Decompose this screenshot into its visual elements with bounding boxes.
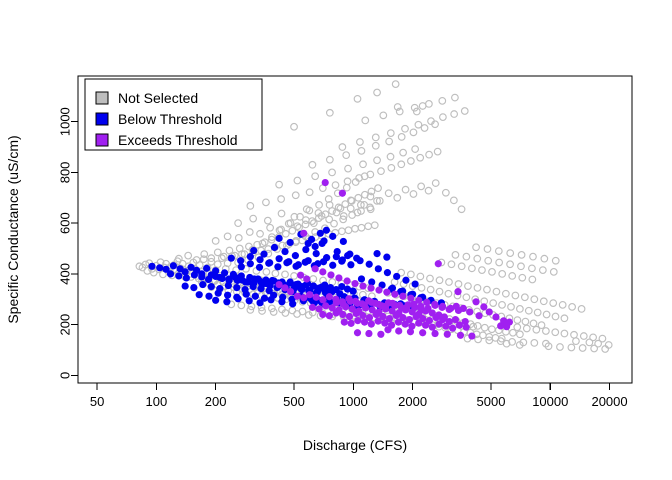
x-tick-label: 1000 (339, 394, 368, 409)
data-point (407, 295, 414, 302)
x-tick-label: 10000 (532, 394, 568, 409)
data-point (412, 280, 419, 287)
data-point (292, 252, 299, 259)
data-point (429, 324, 436, 331)
data-point (457, 332, 464, 339)
data-point (276, 281, 283, 288)
data-point (238, 263, 245, 270)
data-point (333, 309, 340, 316)
data-point (384, 269, 391, 276)
y-axis-title: Specific Conductance (uS/cm) (5, 135, 21, 323)
data-point (346, 251, 353, 258)
data-point (346, 313, 353, 320)
data-point (313, 250, 320, 257)
data-point (383, 254, 390, 261)
data-point (219, 275, 226, 282)
data-point (271, 244, 278, 251)
data-point (480, 303, 487, 310)
data-point (300, 230, 307, 237)
data-point (433, 314, 440, 321)
data-point (492, 313, 499, 320)
data-point (312, 265, 319, 272)
data-point (354, 317, 361, 324)
data-point (435, 260, 442, 267)
data-point (375, 317, 382, 324)
data-point (215, 290, 222, 297)
data-point (276, 255, 283, 262)
data-point (156, 264, 163, 271)
data-point (205, 293, 212, 300)
data-point (302, 259, 309, 266)
data-point (389, 300, 396, 307)
data-point (447, 305, 454, 312)
data-point (276, 235, 283, 242)
data-point (407, 328, 414, 335)
data-point (289, 300, 296, 307)
data-point (373, 311, 380, 318)
legend-swatch-exceeds-threshold (96, 134, 108, 146)
y-tick-label: 200 (57, 314, 72, 336)
data-point (292, 263, 299, 270)
data-point (235, 295, 242, 302)
data-point (167, 270, 174, 277)
data-point (247, 260, 254, 267)
data-point (305, 240, 312, 247)
data-point (341, 319, 348, 326)
data-point (402, 321, 409, 328)
data-point (309, 304, 316, 311)
data-point (424, 305, 431, 312)
data-point (503, 323, 510, 330)
data-point (233, 284, 240, 291)
data-point (475, 312, 482, 319)
data-point (182, 268, 189, 275)
data-point (466, 308, 473, 315)
data-point (323, 227, 330, 234)
data-point (368, 278, 375, 285)
data-point (436, 321, 443, 328)
data-point (322, 302, 329, 309)
x-tick-label: 2000 (398, 394, 427, 409)
data-point (393, 273, 400, 280)
data-point (366, 261, 373, 268)
legend-swatch-not-selected (96, 92, 108, 104)
data-point (413, 313, 420, 320)
data-point (329, 233, 336, 240)
data-point (353, 310, 360, 317)
data-point (472, 298, 479, 305)
data-point (183, 274, 190, 281)
data-point (367, 285, 374, 292)
data-point (347, 320, 354, 327)
data-point (368, 299, 375, 306)
data-point (191, 271, 198, 278)
data-point (175, 272, 182, 279)
data-point (347, 261, 354, 268)
data-point (247, 253, 254, 260)
legend-swatch-below-threshold (96, 113, 108, 125)
data-point (203, 265, 210, 272)
data-point (454, 288, 461, 295)
legend-label-below-threshold: Below Threshold (118, 111, 222, 127)
data-point (208, 283, 215, 290)
data-point (441, 313, 448, 320)
y-tick-label: 400 (57, 263, 72, 285)
data-point (399, 293, 406, 300)
data-point (319, 268, 326, 275)
data-point (297, 285, 304, 292)
data-point (356, 257, 363, 264)
x-tick-label: 100 (146, 394, 168, 409)
data-point (358, 275, 365, 282)
data-point (354, 329, 361, 336)
data-point (381, 320, 388, 327)
data-point (415, 297, 422, 304)
data-point (297, 272, 304, 279)
x-tick-label: 50 (90, 394, 104, 409)
data-point (294, 293, 301, 300)
data-point (335, 274, 342, 281)
data-point (462, 318, 469, 325)
data-point (246, 297, 253, 304)
data-point (449, 325, 456, 332)
x-tick-label: 200 (205, 394, 227, 409)
data-point (237, 257, 244, 264)
data-point (431, 301, 438, 308)
data-point (422, 322, 429, 329)
data-point (306, 291, 313, 298)
data-point (198, 273, 205, 280)
data-point (265, 260, 272, 267)
data-point (377, 331, 384, 338)
x-tick-label: 5000 (477, 394, 506, 409)
data-point (320, 258, 327, 265)
legend-label-exceeds-threshold: Exceeds Threshold (118, 132, 238, 148)
data-point (375, 287, 382, 294)
data-point (322, 179, 329, 186)
data-point (347, 298, 354, 305)
data-point (403, 304, 410, 311)
data-point (182, 282, 189, 289)
data-point (452, 316, 459, 323)
data-point (359, 282, 366, 289)
x-tick-label: 500 (283, 394, 305, 409)
data-point (250, 247, 257, 254)
data-point (468, 332, 475, 339)
scatter-plot-figure: 5010020050010002000500010000200000200400… (0, 0, 672, 480)
data-point (228, 255, 235, 262)
data-point (368, 321, 375, 328)
data-point (361, 319, 368, 326)
data-point (486, 308, 493, 315)
data-point (383, 289, 390, 296)
data-point (212, 273, 219, 280)
data-point (326, 293, 333, 300)
data-point (344, 277, 351, 284)
data-point (199, 281, 206, 288)
data-point (205, 276, 212, 283)
data-point (442, 323, 449, 330)
data-point (350, 288, 357, 295)
data-point (196, 291, 203, 298)
data-point (274, 263, 281, 270)
data-point (340, 238, 347, 245)
data-point (402, 277, 409, 284)
data-point (212, 297, 219, 304)
data-point (256, 299, 263, 306)
data-point (326, 312, 333, 319)
data-point (243, 291, 250, 298)
data-point (431, 330, 438, 337)
legend: Not SelectedBelow ThresholdExceeds Thres… (85, 79, 262, 150)
data-point (455, 307, 462, 314)
data-point (382, 303, 389, 310)
data-point (340, 301, 347, 308)
data-point (148, 263, 155, 270)
data-point (365, 330, 372, 337)
y-tick-label: 600 (57, 212, 72, 234)
data-point (338, 258, 345, 265)
data-point (444, 331, 451, 338)
data-point (351, 280, 358, 287)
data-point (375, 265, 382, 272)
data-point (170, 262, 177, 269)
data-point (225, 282, 232, 289)
data-point (321, 286, 328, 293)
data-point (303, 275, 310, 282)
data-point (439, 303, 446, 310)
data-point (361, 302, 368, 309)
y-tick-label: 0 (57, 372, 72, 379)
data-point (250, 283, 257, 290)
data-point (252, 293, 259, 300)
data-point (281, 248, 288, 255)
data-point (354, 300, 361, 307)
data-point (327, 271, 334, 278)
data-point (312, 243, 319, 250)
data-point (393, 312, 400, 319)
data-point (333, 299, 340, 306)
y-tick-label: 1000 (57, 107, 72, 136)
data-point (224, 292, 231, 299)
data-point (190, 284, 197, 291)
data-point (260, 251, 267, 258)
data-point (395, 319, 402, 326)
y-tick-label: 800 (57, 162, 72, 184)
data-point (319, 311, 326, 318)
data-point (267, 296, 274, 303)
data-point (339, 311, 346, 318)
data-point (251, 275, 258, 282)
data-point (415, 320, 422, 327)
data-point (419, 329, 426, 336)
data-point (257, 285, 264, 292)
x-tick-label: 20000 (591, 394, 627, 409)
legend-label-not-selected: Not Selected (118, 90, 198, 106)
data-point (396, 302, 403, 309)
plot-canvas: 5010020050010002000500010000200000200400… (0, 0, 672, 480)
data-point (384, 326, 391, 333)
data-point (423, 299, 430, 306)
data-point (339, 190, 346, 197)
data-point (329, 262, 336, 269)
data-point (375, 301, 382, 308)
data-point (313, 294, 320, 301)
x-axis-title: Discharge (CFS) (303, 437, 407, 453)
data-point (373, 250, 380, 257)
data-point (256, 264, 263, 271)
data-point (391, 291, 398, 298)
data-point (283, 259, 290, 266)
data-point (395, 327, 402, 334)
data-point (278, 298, 285, 305)
data-point (287, 239, 294, 246)
data-point (320, 237, 327, 244)
data-point (232, 274, 239, 281)
data-point (223, 298, 230, 305)
